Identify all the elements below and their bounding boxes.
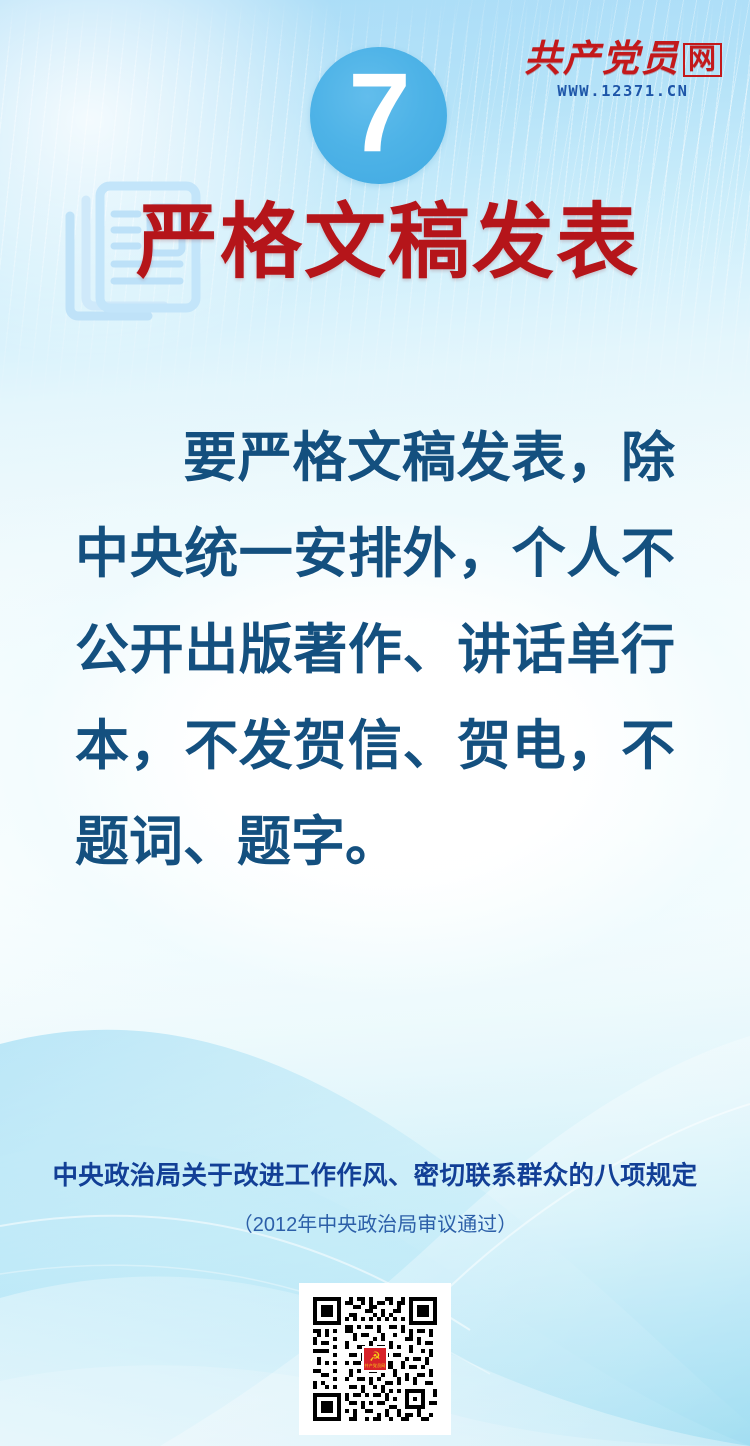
page-title: 严格文稿发表 [0, 196, 750, 290]
section-number-label: 7 [310, 47, 447, 184]
site-url: WWW.12371.CN [518, 82, 728, 100]
section-number-badge: 7 [310, 47, 447, 184]
site-logo[interactable]: 共产党员网 WWW.12371.CN [518, 40, 728, 102]
site-logo-text: 共产党员 [524, 39, 680, 80]
site-logo-wordmark: 共产党员网 [518, 40, 728, 80]
poster-canvas: 共产党员网 WWW.12371.CN 7 严格文稿发表 要严格文稿发表，除 [0, 0, 750, 1446]
qr-code-matrix: ☭ 共产党员网 [309, 1293, 441, 1425]
qr-code[interactable]: ☭ 共产党员网 [299, 1283, 451, 1435]
regulation-subtitle: （2012年中央政治局审议通过） [0, 1208, 750, 1237]
party-emblem-mark: ☭ [369, 1350, 381, 1363]
body-paragraph: 要严格文稿发表，除中央统一安排外，个人不公开出版著作、讲话单行本，不发贺信、贺电… [75, 410, 675, 890]
regulation-title: 中央政治局关于改进工作作风、密切联系群众的八项规定 [0, 1155, 750, 1192]
party-emblem-icon: ☭ 共产党员网 [362, 1346, 388, 1372]
party-emblem-text: 共产党员网 [365, 1363, 386, 1368]
site-logo-boxed-char: 网 [683, 43, 722, 77]
